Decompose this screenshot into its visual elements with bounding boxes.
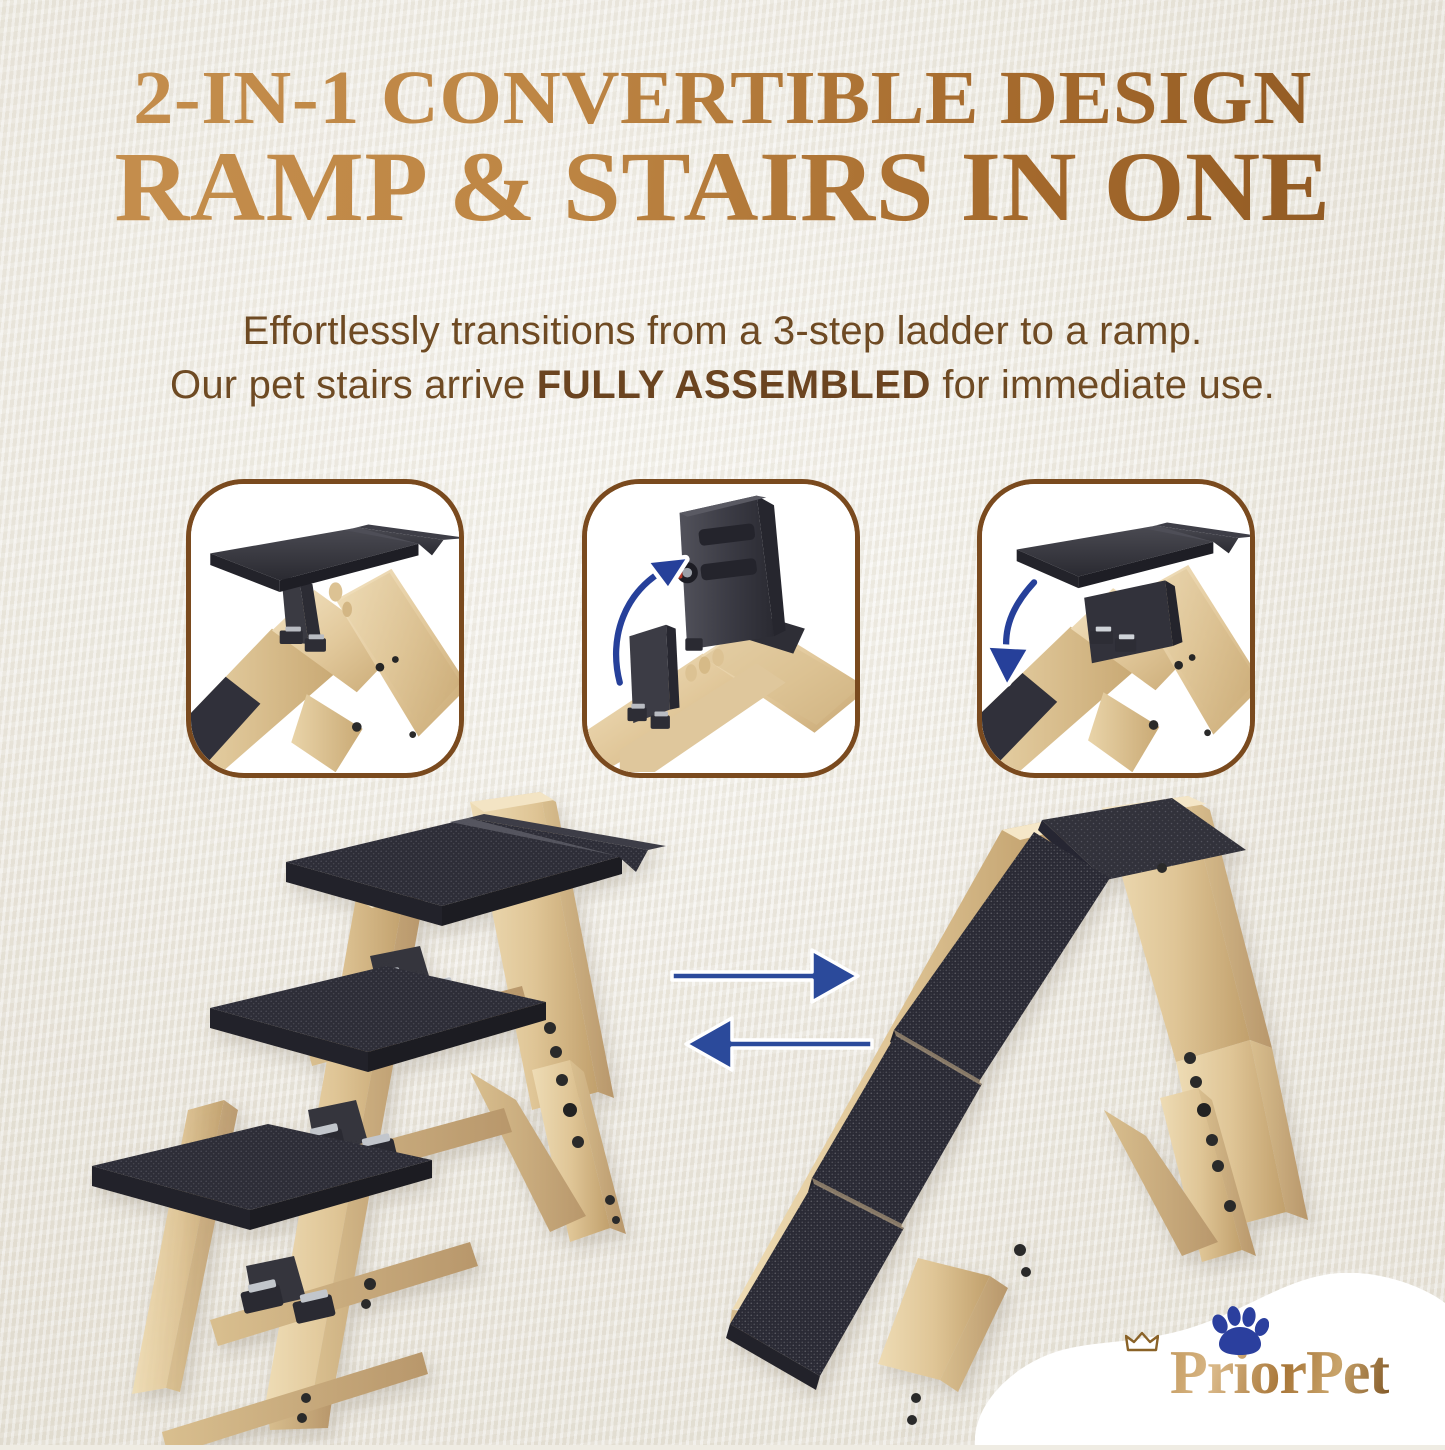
subtitle-block: Effortlessly transitions from a 3-step l… xyxy=(0,305,1445,412)
headline-block: 2-IN-1 CONVERTIBLE DESIGN RAMP & STAIRS … xyxy=(0,62,1445,235)
marketing-stage: 2-IN-1 CONVERTIBLE DESIGN RAMP & STAIRS … xyxy=(0,0,1445,1445)
thumb-3-illustration xyxy=(982,484,1250,772)
product-image-pet-stairs xyxy=(70,780,750,1445)
thumb-2-illustration xyxy=(587,484,855,772)
thumbnail-step-flat-position[interactable] xyxy=(186,479,464,778)
pet-stairs-illustration xyxy=(70,780,750,1445)
subtitle-line-2: Our pet stairs arrive FULLY ASSEMBLED fo… xyxy=(0,359,1445,413)
brand-name: PriorPet xyxy=(1170,1338,1389,1409)
crown-icon xyxy=(1125,1331,1159,1353)
thumbnail-step-folding-up[interactable] xyxy=(582,479,860,778)
subtitle-line-2-before: Our pet stairs arrive xyxy=(170,363,537,407)
subtitle-line-1: Effortlessly transitions from a 3-step l… xyxy=(0,305,1445,359)
subtitle-line-2-after: for immediate use. xyxy=(931,363,1275,407)
thumbnail-step-folding-down[interactable] xyxy=(977,479,1255,778)
subtitle-emphasis: FULLY ASSEMBLED xyxy=(537,363,931,407)
paw-print-icon xyxy=(1207,1305,1269,1357)
headline-line-1: 2-IN-1 CONVERTIBLE DESIGN xyxy=(0,62,1445,135)
thumb-1-illustration xyxy=(191,484,459,772)
headline-line-2: RAMP & STAIRS IN ONE xyxy=(0,139,1445,235)
